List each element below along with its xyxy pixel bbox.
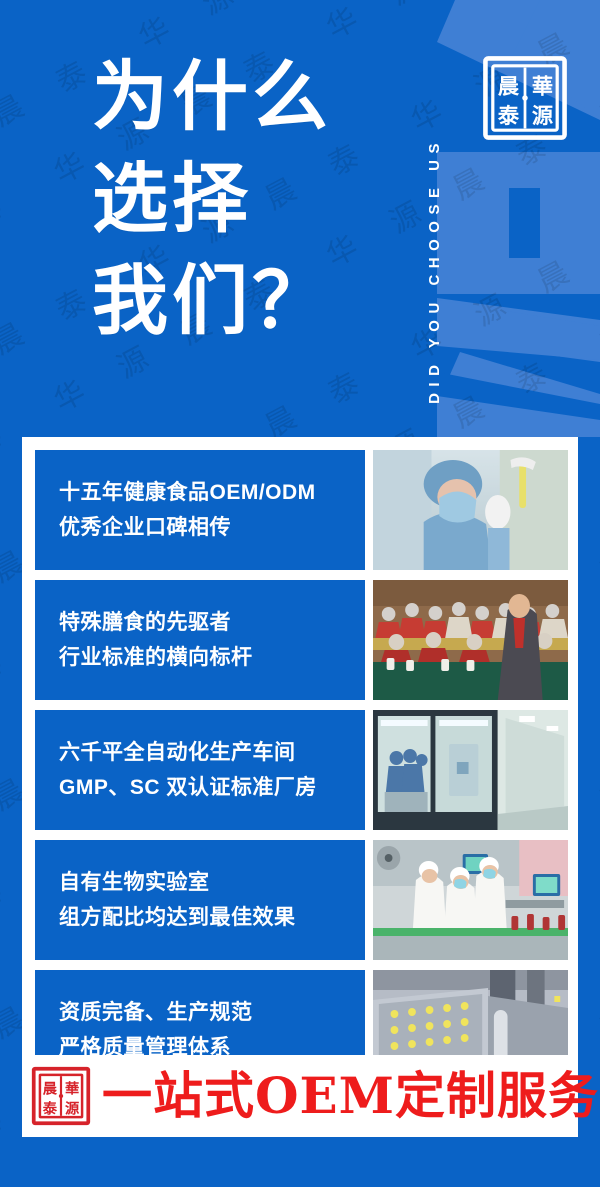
footer-strip xyxy=(0,1137,600,1187)
svg-text:華: 華 xyxy=(65,1080,79,1098)
list-item[interactable]: 十五年健康食品OEM/ODM 优秀企业口碑相传 xyxy=(35,450,568,570)
watermark-text: 华 源 晨 泰 xyxy=(0,870,22,1019)
feature-text-3: 六千平全自动化生产车间 GMP、SC 双认证标准厂房 xyxy=(35,710,365,830)
title-line-1: 为什么 xyxy=(92,46,392,148)
title-line-2: 选择 xyxy=(92,148,392,250)
feature-line: GMP、SC 双认证标准厂房 xyxy=(59,771,357,804)
feature-line: 优秀企业口碑相传 xyxy=(59,511,357,544)
svg-text:晨: 晨 xyxy=(43,1080,58,1098)
feature-image-lab-technician xyxy=(373,450,568,570)
list-item[interactable]: 特殊膳食的先驱者 行业标准的横向标杆 xyxy=(35,580,568,700)
svg-text:泰: 泰 xyxy=(498,103,520,128)
svg-text:晨: 晨 xyxy=(498,73,520,98)
title-line-3: 我们？ xyxy=(92,250,392,352)
feature-line: 六千平全自动化生产车间 xyxy=(59,736,357,769)
feature-image-conference-hall xyxy=(373,580,568,700)
feature-line: 行业标准的横向标杆 xyxy=(59,641,357,674)
svg-text:泰: 泰 xyxy=(43,1099,58,1117)
feature-line: 特殊膳食的先驱者 xyxy=(59,606,357,639)
svg-text:華: 華 xyxy=(532,73,553,98)
features-list: 十五年健康食品OEM/ODM 优秀企业口碑相传 xyxy=(35,450,568,1090)
watermark-text: 华 源 晨 泰 xyxy=(0,642,22,791)
watermark-text: 华 源 晨 泰 xyxy=(595,663,600,812)
feature-line: 十五年健康食品OEM/ODM xyxy=(59,476,357,509)
feature-image-cleanroom xyxy=(373,710,568,830)
vertical-subtitle-text: DID YOU CHOOSE US xyxy=(426,137,443,404)
company-seal-red-icon: 晨 華 泰 源 xyxy=(30,1065,92,1127)
features-panel: 十五年健康食品OEM/ODM 优秀企业口碑相传 xyxy=(22,437,578,1137)
feature-line: 组方配比均达到最佳效果 xyxy=(59,901,357,934)
poster-root: 华 源 晨 泰华 源 晨 泰华 源 晨 泰华 源 晨 泰 华 源 晨 泰华 源 … xyxy=(0,0,600,1187)
svg-text:源: 源 xyxy=(65,1099,80,1117)
feature-text-2: 特殊膳食的先驱者 行业标准的横向标杆 xyxy=(35,580,365,700)
watermark-text: 华 源 晨 泰 xyxy=(595,891,600,1040)
page-title: 为什么 选择 我们？ xyxy=(92,46,392,352)
company-seal-white-icon: 晨 華 泰 源 xyxy=(479,52,571,144)
feature-line: 自有生物实验室 xyxy=(59,866,357,899)
feature-text-1: 十五年健康食品OEM/ODM 优秀企业口碑相传 xyxy=(35,450,365,570)
watermark-text: 华 源 晨 泰 xyxy=(595,435,600,584)
feature-line: 资质完备、生产规范 xyxy=(59,996,357,1029)
list-item[interactable]: 自有生物实验室 组方配比均达到最佳效果 xyxy=(35,840,568,960)
bottom-banner: 晨 華 泰 源 一站式OEM定制服务 xyxy=(22,1055,578,1137)
poster-header: 为什么 选择 我们？ DID YOU CHOOSE US 晨 華 泰 源 xyxy=(0,0,600,437)
list-item[interactable]: 六千平全自动化生产车间 GMP、SC 双认证标准厂房 xyxy=(35,710,568,830)
vertical-subtitle: DID YOU CHOOSE US xyxy=(421,24,447,404)
banner-headline: 一站式OEM定制服务 xyxy=(102,1071,599,1121)
feature-text-4: 自有生物实验室 组方配比均达到最佳效果 xyxy=(35,840,365,960)
svg-text:源: 源 xyxy=(532,103,553,128)
feature-image-packaging-line xyxy=(373,840,568,960)
